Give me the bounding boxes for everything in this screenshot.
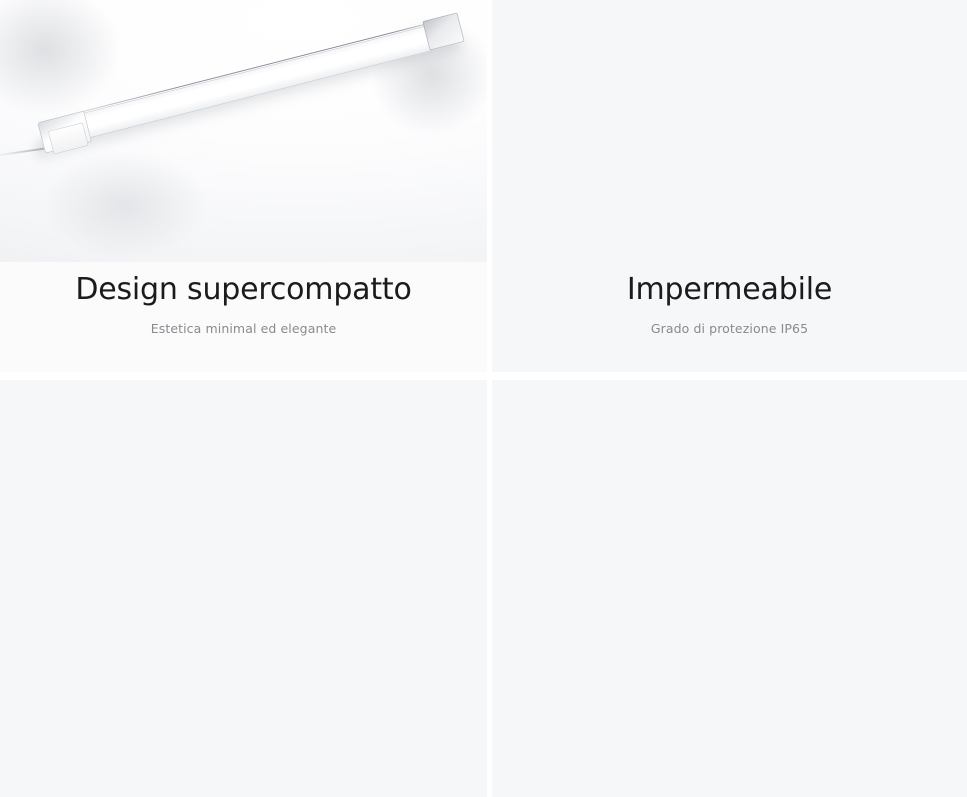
panel-title: Design supercompatto [0, 272, 487, 307]
product-photo [0, 0, 487, 262]
grid-gutter-horizontal-right [492, 372, 967, 380]
feature-grid: Design supercompatto Estetica minimal ed… [0, 0, 967, 797]
feature-panel-resistente: IK06 Resistente Grado di protezione urti… [0, 380, 487, 797]
grid-gutter-horizontal-left [0, 372, 487, 380]
feature-panel-doppio-isolamento: Doppio isolamento Progettata per la sicu… [492, 380, 967, 797]
feature-panel-design-supercompatto: Design supercompatto Estetica minimal ed… [0, 0, 487, 372]
feature-panel-impermeabile: IP65 Impermeabile Grado di protezione IP… [492, 0, 967, 372]
panel-subtitle: Estetica minimal ed elegante [0, 321, 487, 337]
caption-design-supercompatto: Design supercompatto Estetica minimal ed… [0, 272, 487, 338]
panel-title: Impermeabile [492, 272, 967, 307]
caption-impermeabile: Impermeabile Grado di protezione IP65 [492, 272, 967, 338]
panel-subtitle: Grado di protezione IP65 [492, 321, 967, 337]
